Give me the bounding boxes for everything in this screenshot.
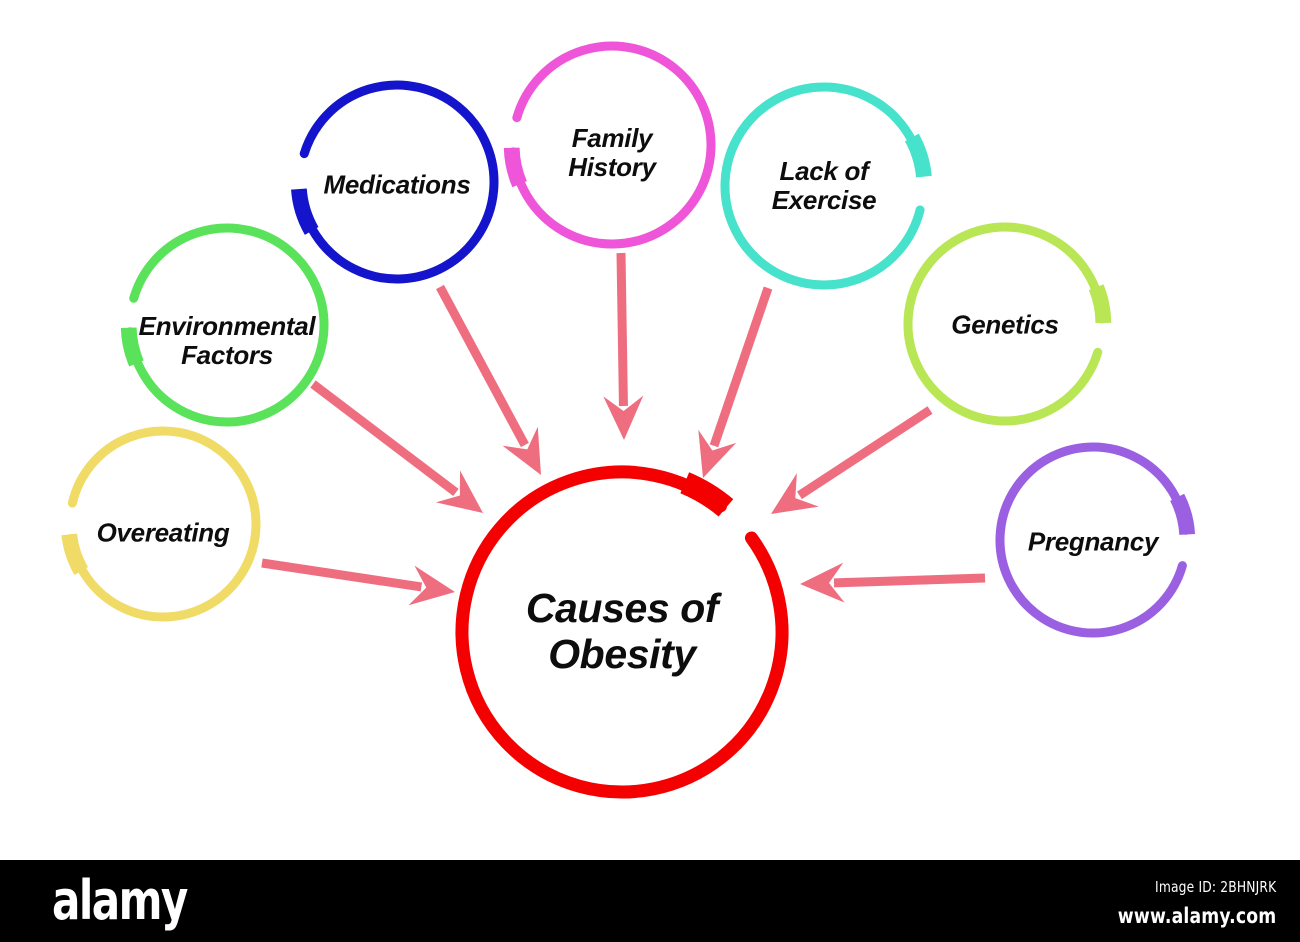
- mind-map-canvas: [0, 0, 1300, 860]
- node-circle-accent-environmental-factors: [129, 328, 137, 364]
- arrow-head: [771, 473, 819, 514]
- arrow-shaft: [714, 288, 768, 446]
- diagram-page: OvereatingEnvironmental FactorsMedicatio…: [0, 0, 1300, 942]
- node-circle-medications[interactable]: [301, 85, 494, 279]
- node-circle-family-history[interactable]: [513, 46, 711, 244]
- arrow-overeating-to-causes-of-obesity: [262, 563, 455, 605]
- node-circle-environmental-factors[interactable]: [130, 228, 324, 422]
- arrow-shaft: [313, 384, 456, 492]
- node-circle-pregnancy[interactable]: [1000, 447, 1185, 633]
- node-circle-accent-medications: [299, 189, 312, 231]
- arrow-head: [436, 470, 483, 513]
- node-circle-accent-family-history: [512, 148, 520, 184]
- alamy-watermark-bar: alamy Image ID: 2BHNJRK www.alamy.com: [0, 860, 1300, 942]
- arrow-pregnancy-to-causes-of-obesity: [800, 563, 985, 603]
- image-id-text: Image ID: 2BHNJRK: [1117, 878, 1276, 896]
- node-circle-accent-overeating: [69, 534, 81, 571]
- alamy-url-text[interactable]: www.alamy.com: [1117, 904, 1276, 928]
- arrow-lack-of-exercise-to-causes-of-obesity: [698, 288, 768, 478]
- node-circle-overeating[interactable]: [71, 431, 256, 617]
- arrow-shaft: [621, 253, 623, 406]
- arrow-family-history-to-causes-of-obesity: [603, 253, 643, 440]
- arrow-shaft: [262, 563, 421, 587]
- arrow-shaft: [799, 410, 930, 495]
- arrows-layer: [262, 253, 985, 605]
- alamy-logo: alamy: [52, 874, 187, 928]
- arrow-shaft: [834, 578, 985, 583]
- node-circle-accent-causes-of-obesity: [685, 483, 726, 508]
- arrow-medications-to-causes-of-obesity: [440, 287, 541, 475]
- node-circle-causes-of-obesity[interactable]: [462, 472, 782, 792]
- arrow-shaft: [440, 287, 525, 445]
- arrow-genetics-to-causes-of-obesity: [771, 410, 930, 514]
- arrow-environmental-factors-to-causes-of-obesity: [313, 384, 483, 513]
- node-circle-accent-lack-of-exercise: [912, 138, 924, 177]
- node-circle-accent-genetics: [1096, 287, 1103, 323]
- node-circle-accent-pregnancy: [1177, 497, 1187, 534]
- node-circle-genetics[interactable]: [908, 227, 1102, 421]
- node-circle-lack-of-exercise[interactable]: [725, 87, 922, 285]
- footer-meta: Image ID: 2BHNJRK www.alamy.com: [1083, 878, 1276, 928]
